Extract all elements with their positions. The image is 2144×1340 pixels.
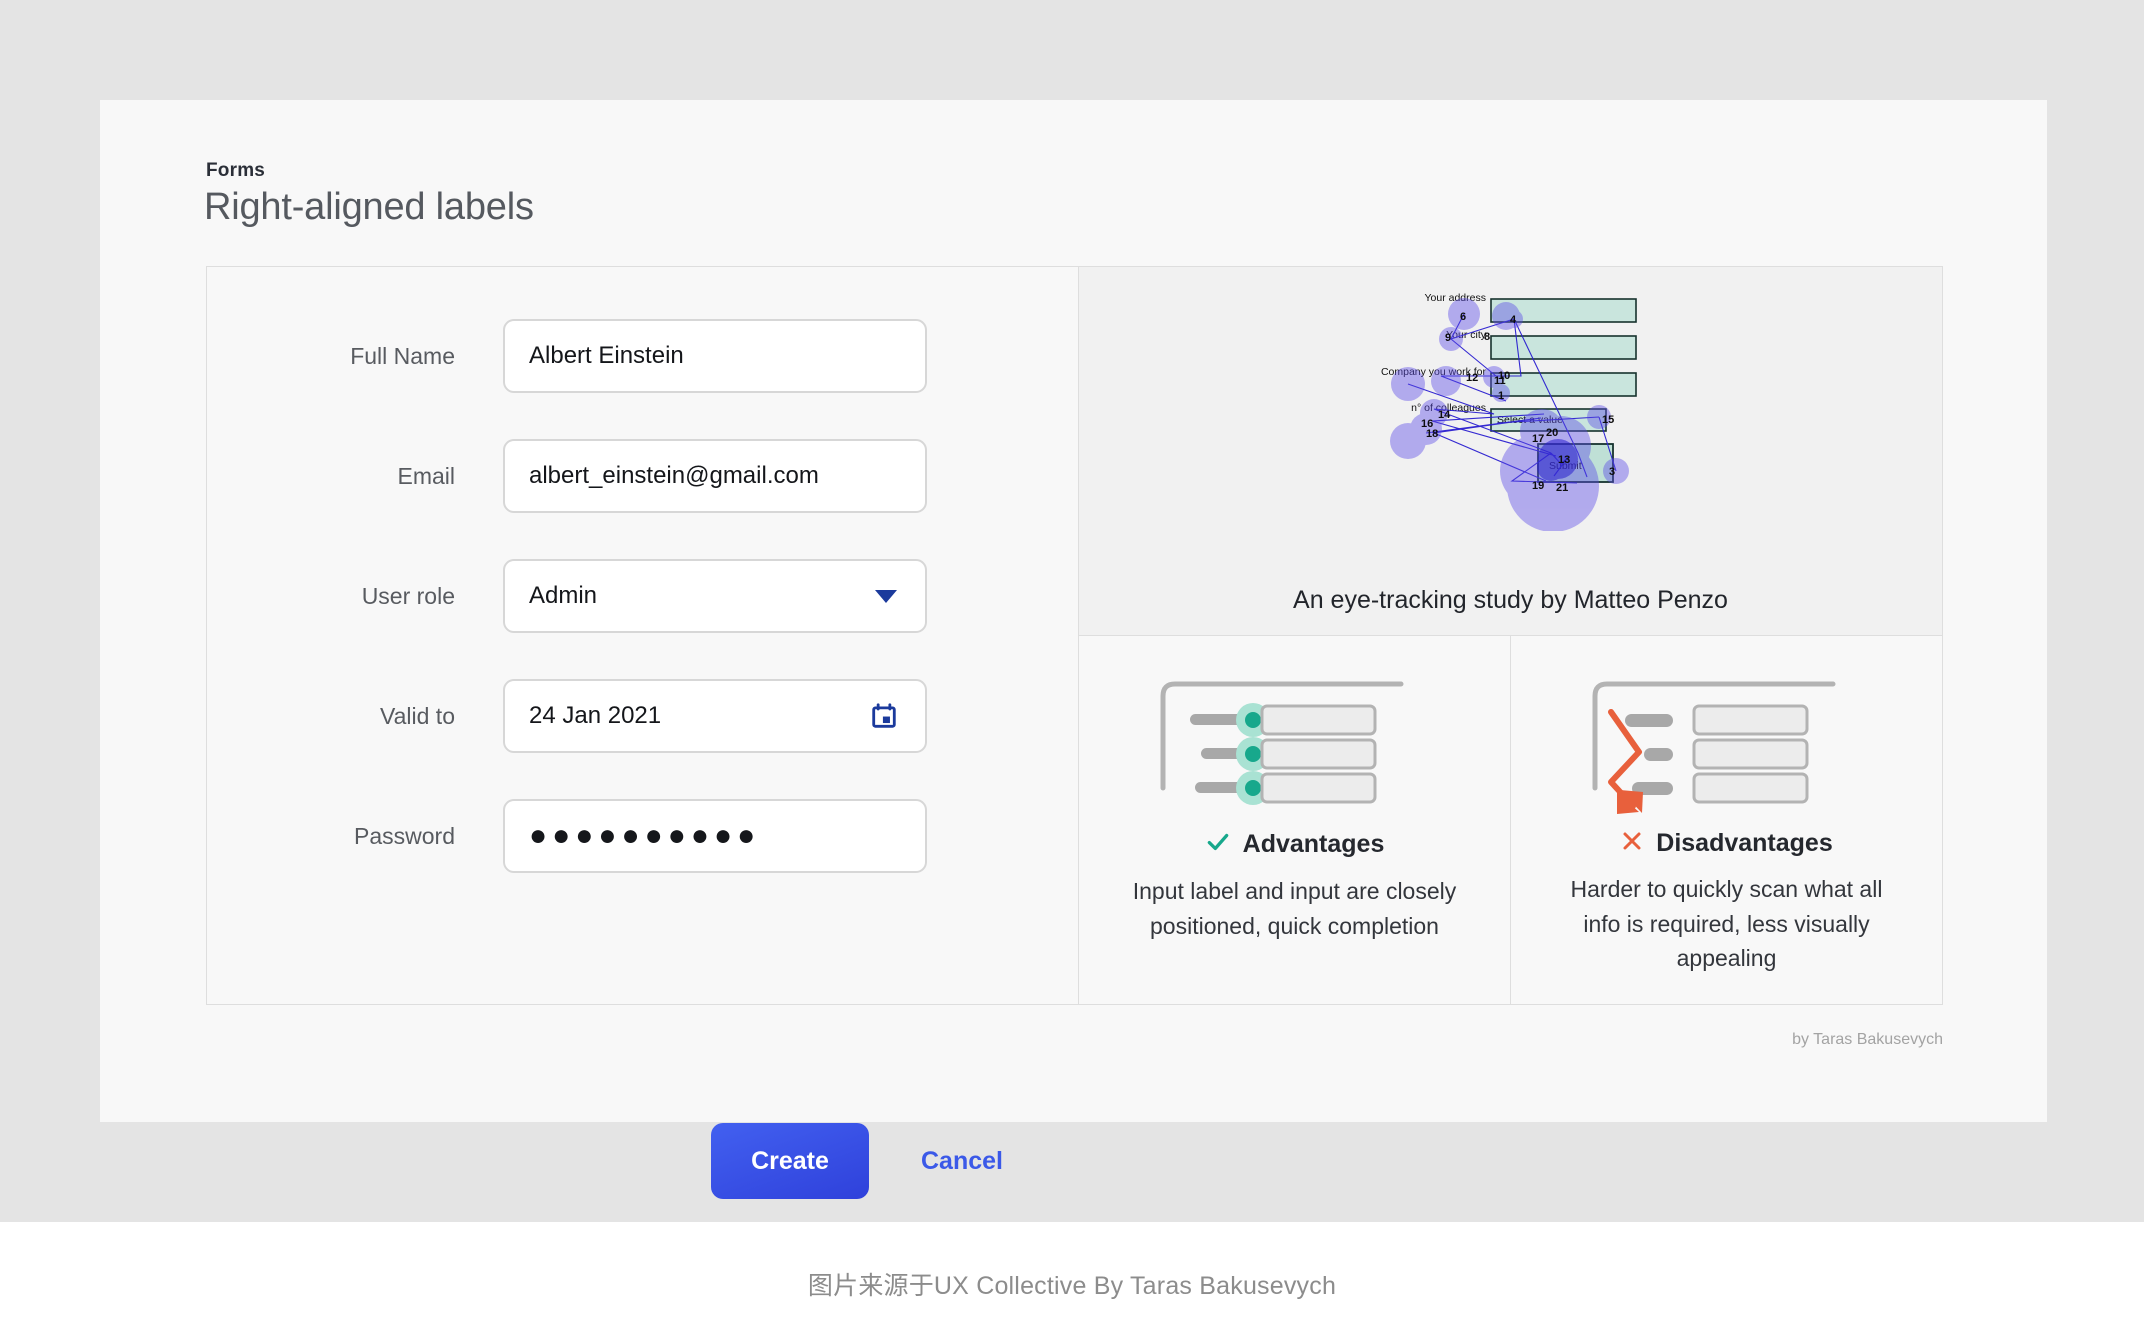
- chevron-down-icon[interactable]: [875, 590, 897, 603]
- author-byline: by Taras Bakusevych: [1792, 1031, 1943, 1049]
- field-row-email: Email albert_einstein@gmail.com: [263, 439, 927, 513]
- svg-text:11: 11: [1494, 375, 1506, 387]
- field-row-user-role: User role Admin: [263, 559, 927, 633]
- input-password[interactable]: ●●●●●●●●●●: [503, 799, 927, 873]
- eye-tracking-figure: Your address Your city Company you work …: [1079, 267, 1942, 635]
- svg-text:12: 12: [1466, 372, 1478, 384]
- svg-text:17: 17: [1532, 433, 1544, 445]
- disadvantages-illustration: [1577, 670, 1877, 815]
- section-eyebrow: Forms: [206, 160, 265, 182]
- select-user-role-value: Admin: [529, 582, 875, 610]
- svg-text:6: 6: [1460, 311, 1466, 323]
- input-password-value: ●●●●●●●●●●: [529, 821, 901, 851]
- svg-text:19: 19: [1532, 480, 1544, 492]
- advantages-text: Input label and input are closely positi…: [1130, 874, 1460, 943]
- pros-cons-row: Advantages Input label and input are clo…: [1079, 636, 1942, 1004]
- svg-text:4: 4: [1510, 314, 1517, 326]
- select-user-role[interactable]: Admin: [503, 559, 927, 633]
- label-full-name: Full Name: [263, 343, 503, 370]
- label-valid-to: Valid to: [263, 703, 503, 730]
- eye-tracking-panel: Your address Your city Company you work …: [1079, 267, 1942, 636]
- svg-text:15: 15: [1602, 414, 1614, 426]
- advantages-panel: Advantages Input label and input are clo…: [1079, 636, 1511, 1004]
- input-email[interactable]: albert_einstein@gmail.com: [503, 439, 927, 513]
- form-actions: Create Cancel: [711, 1123, 1003, 1199]
- page-title: Right-aligned labels: [204, 186, 534, 229]
- eye-tracking-heatmap: Your address Your city Company you work …: [1346, 281, 1676, 531]
- input-valid-to[interactable]: 24 Jan 2021: [503, 679, 927, 753]
- check-icon: [1205, 829, 1231, 860]
- field-row-password: Password ●●●●●●●●●●: [263, 799, 927, 873]
- field-row-valid-to: Valid to 24 Jan 2021: [263, 679, 927, 753]
- field-row-full-name: Full Name Albert Einstein: [263, 319, 927, 393]
- disadvantages-panel: Disadvantages Harder to quickly scan wha…: [1511, 636, 1942, 1004]
- svg-text:14: 14: [1438, 409, 1451, 421]
- svg-text:21: 21: [1556, 482, 1568, 494]
- svg-text:20: 20: [1546, 427, 1558, 439]
- info-panel: Your address Your city Company you work …: [1079, 267, 1942, 1004]
- eye-tracking-caption: An eye-tracking study by Matteo Penzo: [1079, 586, 1942, 615]
- source-caption: 图片来源于UX Collective By Taras Bakusevych: [0, 1266, 2144, 1302]
- cancel-button[interactable]: Cancel: [921, 1147, 1003, 1176]
- advantages-title: Advantages: [1243, 830, 1385, 859]
- svg-text:13: 13: [1558, 454, 1570, 466]
- label-password: Password: [263, 823, 503, 850]
- form-panel: Full Name Albert Einstein Email albert_e…: [207, 267, 1079, 1004]
- advantages-header: Advantages: [1205, 829, 1385, 860]
- advantages-illustration: [1145, 670, 1445, 815]
- disadvantages-title: Disadvantages: [1656, 829, 1832, 858]
- svg-text:1: 1: [1498, 390, 1504, 402]
- svg-text:9: 9: [1445, 332, 1451, 344]
- calendar-icon[interactable]: [871, 703, 897, 729]
- create-button[interactable]: Create: [711, 1123, 869, 1199]
- disadvantages-text: Harder to quickly scan what all info is …: [1562, 872, 1892, 976]
- input-email-value: albert_einstein@gmail.com: [529, 462, 901, 490]
- cross-icon: [1620, 829, 1644, 858]
- label-user-role: User role: [263, 583, 503, 610]
- svg-text:18: 18: [1426, 428, 1438, 440]
- input-full-name-value: Albert Einstein: [529, 342, 901, 370]
- input-full-name[interactable]: Albert Einstein: [503, 319, 927, 393]
- panel-grid: Full Name Albert Einstein Email albert_e…: [206, 266, 1943, 1005]
- input-valid-to-value: 24 Jan 2021: [529, 702, 871, 730]
- svg-text:3: 3: [1609, 466, 1615, 478]
- content-card: Forms Right-aligned labels Full Name Alb…: [100, 100, 2047, 1122]
- svg-text:8: 8: [1484, 331, 1490, 343]
- label-email: Email: [263, 463, 503, 490]
- disadvantages-header: Disadvantages: [1620, 829, 1832, 858]
